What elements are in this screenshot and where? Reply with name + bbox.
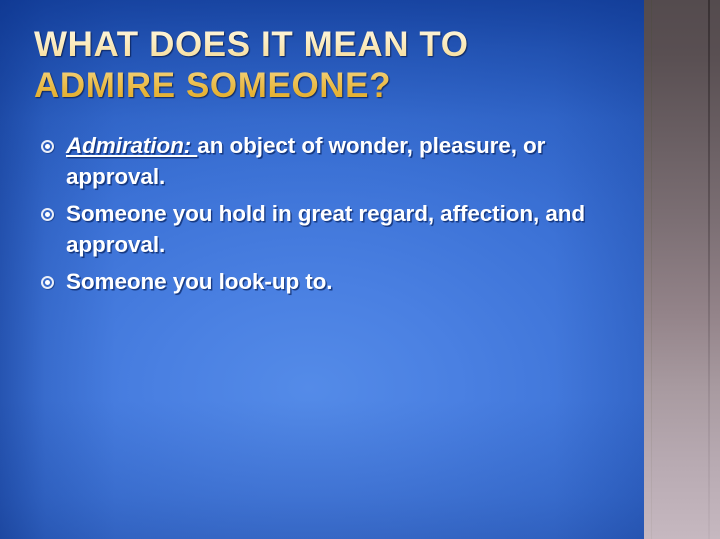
bullet-text: Someone you hold in great regard, affect… <box>66 201 585 257</box>
presentation-slide: What does it mean to admire someone? Adm… <box>0 0 720 539</box>
bullet-term: Admiration: <box>66 133 197 158</box>
list-item: Someone you look-up to. <box>40 266 608 297</box>
slide-band-edge-line <box>708 0 710 539</box>
target-dot-bullet-icon <box>41 140 54 153</box>
bullet-text: Someone you look-up to. <box>66 269 332 294</box>
bullet-list: Admiration: an object of wonder, pleasur… <box>40 130 608 303</box>
list-item: Someone you hold in great regard, affect… <box>40 198 608 260</box>
target-dot-bullet-icon <box>41 208 54 221</box>
list-item: Admiration: an object of wonder, pleasur… <box>40 130 608 192</box>
target-dot-bullet-icon <box>41 276 54 289</box>
slide-title: What does it mean to admire someone? <box>34 24 594 106</box>
slide-band-inner-line <box>651 0 652 539</box>
title-block: What does it mean to admire someone? <box>34 24 594 106</box>
